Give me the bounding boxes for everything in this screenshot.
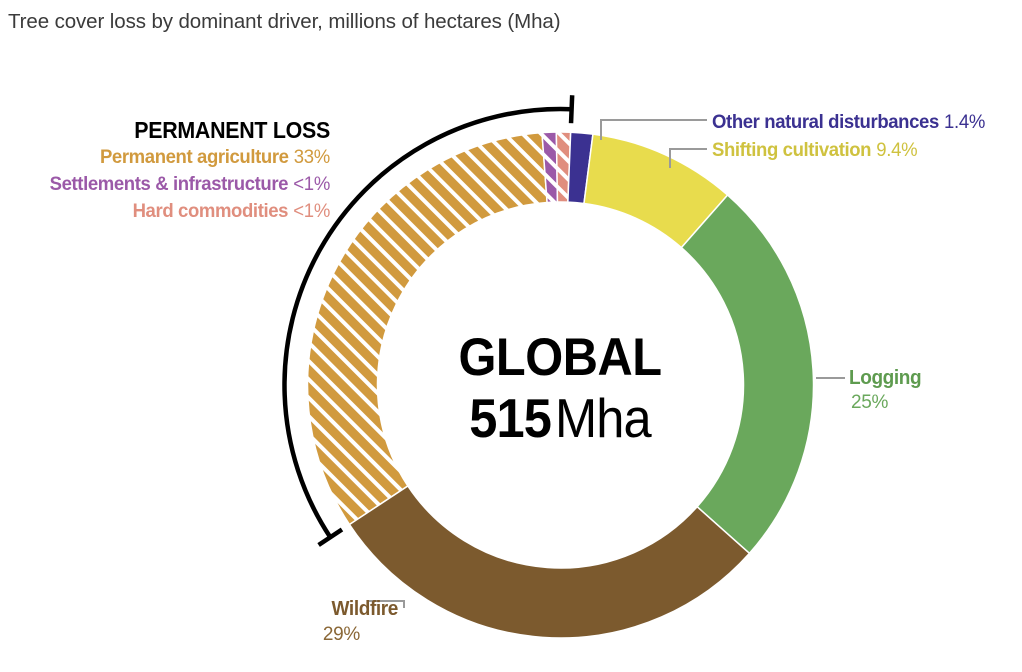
legend-percent-settlements-infrastructure: <1% — [293, 173, 330, 195]
callout-percent-other-natural-disturbances: 1.4% — [944, 111, 985, 133]
legend-label-hard-commodities: Hard commodities — [133, 200, 289, 222]
chart-canvas: Tree cover loss by dominant driver, mill… — [0, 0, 1022, 672]
top-right-callouts: Other natural disturbances 1.4% Shifting… — [712, 108, 1000, 164]
callout-label-other-natural-disturbances: Other natural disturbances — [712, 111, 939, 133]
legend-label-permanent-agriculture: Permanent agriculture — [100, 146, 289, 168]
callout-logging[interactable]: Logging 25% — [849, 366, 925, 416]
callout-percent-shifting-cultivation: 9.4% — [876, 139, 917, 161]
slice-wildfire[interactable] — [349, 486, 749, 638]
callout-label-logging: Logging — [849, 366, 921, 390]
callout-wildfire[interactable]: Wildfire 29% — [188, 597, 398, 649]
leader-other-natural-disturbances — [601, 120, 707, 140]
callout-percent-logging: 25% — [849, 390, 925, 416]
legend-label-settlements-infrastructure: Settlements & infrastructure — [50, 173, 288, 195]
center-unit: Mha — [555, 387, 651, 449]
callout-label-shifting-cultivation: Shifting cultivation — [712, 139, 871, 161]
callout-shifting-cultivation[interactable]: Shifting cultivation 9.4% — [712, 136, 985, 164]
center-value-line: 515 Mha — [394, 386, 725, 465]
legend-percent-permanent-agriculture: 33% — [294, 146, 330, 168]
donut-center-label: GLOBAL 515 Mha — [380, 330, 740, 465]
callout-label-wildfire: Wildfire — [199, 597, 399, 621]
permanent-loss-legend: PERMANENT LOSS Permanent agriculture 33%… — [0, 117, 330, 225]
callout-other-natural-disturbances[interactable]: Other natural disturbances 1.4% — [712, 108, 985, 136]
legend-item-permanent-agriculture[interactable]: Permanent agriculture 33% — [17, 144, 331, 171]
callout-percent-wildfire: 29% — [188, 621, 398, 649]
legend-percent-hard-commodities: <1% — [293, 200, 330, 222]
center-value: 515 — [469, 387, 551, 449]
legend-item-hard-commodities[interactable]: Hard commodities <1% — [17, 198, 331, 225]
legend-item-settlements-infrastructure[interactable]: Settlements & infrastructure <1% — [17, 171, 331, 198]
center-heading: GLOBAL — [394, 330, 725, 386]
permanent-loss-heading: PERMANENT LOSS — [23, 117, 330, 144]
